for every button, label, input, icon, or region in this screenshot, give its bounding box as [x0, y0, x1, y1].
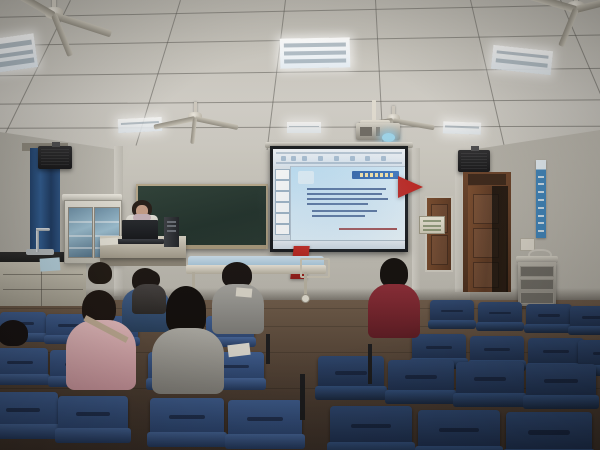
suspended-grid-ceiling: [0, 0, 600, 152]
doorway-opening: [492, 186, 508, 292]
chair[interactable]: [150, 398, 224, 450]
slide-thumbnail-panel[interactable]: [273, 166, 291, 241]
faucet-arm: [36, 228, 50, 231]
chair[interactable]: [0, 392, 58, 448]
ceiling-light-panel: [287, 122, 321, 133]
chair[interactable]: [330, 406, 412, 450]
equipment-cart: [518, 262, 556, 306]
attendee-body: [152, 328, 224, 394]
powerpoint-ribbon[interactable]: [273, 149, 405, 167]
wall-cabinet-door[interactable]: [425, 196, 453, 272]
slide-title-banner: [352, 171, 399, 179]
attendee-body: [132, 284, 166, 314]
chair[interactable]: [58, 396, 128, 450]
slide-watermark-logo: [298, 171, 314, 184]
wall-speaker-right: [458, 150, 490, 172]
attendee-body: [66, 320, 136, 390]
attendee-hair: [166, 286, 206, 334]
laptop-screen[interactable]: [122, 220, 158, 240]
blue-wall-sign: [536, 160, 546, 238]
framed-wall-notice: [419, 216, 445, 234]
laptop-keyboard[interactable]: [116, 239, 164, 244]
chair[interactable]: [456, 362, 524, 415]
bed-caster: [301, 294, 310, 303]
chair[interactable]: [228, 400, 302, 450]
slide-canvas[interactable]: [291, 167, 403, 240]
chair-leg: [300, 374, 305, 420]
wall-speaker-left: [38, 146, 72, 169]
towel: [40, 257, 61, 271]
ceiling-light-panel: [443, 121, 481, 134]
projector-lens-icon: [382, 133, 395, 142]
chair[interactable]: [430, 300, 474, 334]
slide-signature-line: [339, 228, 397, 230]
chair[interactable]: [388, 360, 454, 412]
chair[interactable]: [526, 304, 572, 339]
chair[interactable]: [418, 410, 500, 450]
ceiling-light-panel: [280, 37, 351, 68]
chair-leg: [266, 334, 270, 364]
attendee-body: [368, 284, 420, 338]
chair[interactable]: [478, 302, 522, 336]
attendee-hair: [0, 320, 28, 346]
faucet: [36, 228, 39, 252]
desktop-computer-tower: [164, 217, 179, 247]
door-transom-window: [468, 174, 506, 185]
papers-on-desk: [100, 238, 118, 246]
ceiling-light-panel: [0, 33, 38, 73]
projection-screen[interactable]: [270, 146, 408, 252]
classroom-photo: [0, 0, 600, 450]
paper-handout: [236, 287, 253, 297]
chair[interactable]: [318, 356, 384, 408]
slide-body-text: [307, 186, 395, 221]
slide-title-text: [360, 173, 396, 177]
chair[interactable]: [526, 364, 596, 418]
red-pennant-flag: [398, 176, 423, 198]
sink-basin: [26, 249, 54, 255]
chair[interactable]: [570, 306, 600, 341]
projected-slide: [273, 149, 405, 249]
chair[interactable]: [506, 412, 592, 450]
chair-leg: [368, 344, 372, 384]
chair[interactable]: [0, 348, 48, 392]
